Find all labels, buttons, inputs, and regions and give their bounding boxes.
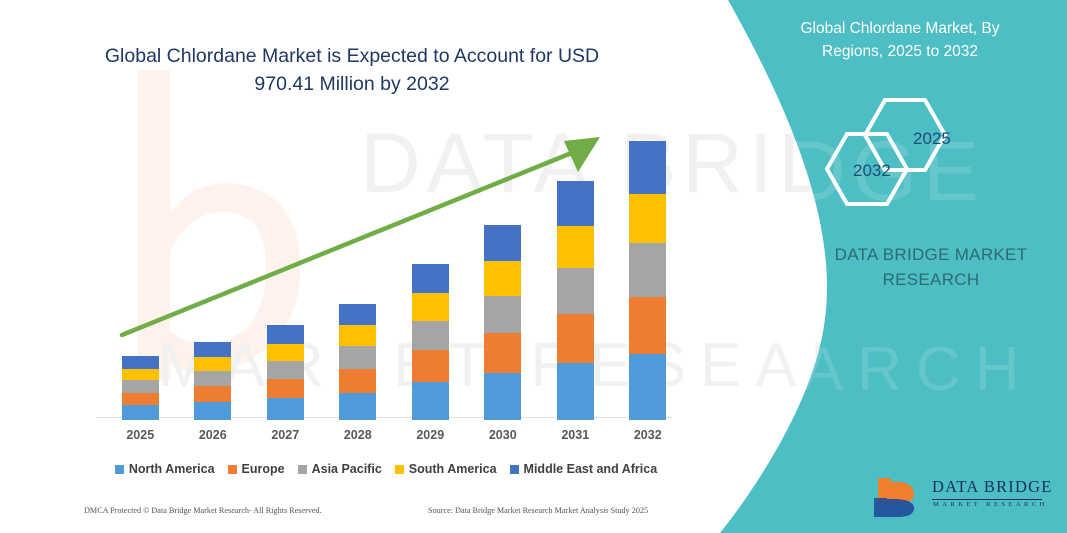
bar-segment-north-america: [412, 382, 449, 420]
x-axis-label-2028: 2028: [328, 428, 388, 442]
bar-segment-middle-east-and-africa: [267, 325, 304, 343]
bar-segment-middle-east-and-africa: [339, 304, 376, 326]
bar-segment-south-america: [194, 357, 231, 371]
bar-segment-europe: [194, 386, 231, 402]
bar-segment-north-america: [557, 363, 594, 420]
bar-segment-europe: [629, 297, 666, 354]
bar-segment-north-america: [629, 354, 666, 420]
bar-segment-asia-pacific: [339, 346, 376, 369]
slide-canvas: DATA BRIDGE MARKET RESEARCH BRIDGE RESEA…: [0, 0, 1067, 533]
hexagon-label-2025: 2025: [913, 129, 951, 149]
bar-segment-north-america: [484, 373, 521, 420]
bar-segment-asia-pacific: [267, 361, 304, 379]
bar-segment-asia-pacific: [122, 380, 159, 393]
data-bridge-logo: DATA BRIDGE MARKET RESEARCH: [872, 474, 1047, 520]
bar-2025: [122, 356, 159, 420]
bar-segment-asia-pacific: [484, 296, 521, 334]
stacked-bar-chart: [96, 120, 676, 420]
bar-segment-south-america: [122, 369, 159, 380]
bar-segment-south-america: [484, 261, 521, 295]
bar-segment-south-america: [412, 293, 449, 320]
panel-title: Global Chlordane Market, By Regions, 202…: [769, 17, 1031, 64]
bar-segment-middle-east-and-africa: [629, 141, 666, 194]
bar-2026: [194, 342, 231, 420]
bar-2029: [412, 264, 449, 420]
legend-item-europe[interactable]: Europe: [228, 462, 285, 476]
legend-label: Middle East and Africa: [524, 462, 658, 476]
legend-label: South America: [409, 462, 497, 476]
bar-segment-europe: [267, 379, 304, 398]
bar-segment-middle-east-and-africa: [122, 356, 159, 369]
bar-segment-middle-east-and-africa: [557, 181, 594, 226]
footer-copyright: DMCA Protected © Data Bridge Market Rese…: [84, 506, 322, 515]
bar-2028: [339, 304, 376, 420]
bar-segment-south-america: [629, 194, 666, 243]
bar-2030: [484, 225, 521, 420]
bar-segment-europe: [339, 369, 376, 393]
x-axis-label-2031: 2031: [545, 428, 605, 442]
footer: DMCA Protected © Data Bridge Market Rese…: [0, 506, 700, 524]
legend-swatch-icon: [395, 465, 404, 474]
legend-swatch-icon: [298, 465, 307, 474]
year-hexagons: [820, 92, 1010, 212]
hexagon-label-2032: 2032: [853, 161, 891, 181]
bar-segment-south-america: [267, 344, 304, 361]
legend-item-middle-east-and-africa[interactable]: Middle East and Africa: [510, 462, 658, 476]
bar-segment-middle-east-and-africa: [484, 225, 521, 262]
chart-legend: North AmericaEuropeAsia PacificSouth Ame…: [96, 460, 676, 478]
x-axis-label-2032: 2032: [618, 428, 678, 442]
legend-item-asia-pacific[interactable]: Asia Pacific: [298, 462, 382, 476]
panel-brand: DATA BRIDGE MARKET RESEARCH: [795, 243, 1067, 292]
bar-segment-europe: [557, 314, 594, 363]
x-axis-label-2026: 2026: [183, 428, 243, 442]
legend-swatch-icon: [228, 465, 237, 474]
page-title: Global Chlordane Market is Expected to A…: [92, 42, 612, 99]
bar-segment-asia-pacific: [629, 243, 666, 297]
footer-source: Source: Data Bridge Market Research Mark…: [428, 506, 648, 515]
logo-name: DATA BRIDGE: [932, 477, 1053, 497]
legend-item-north-america[interactable]: North America: [115, 462, 215, 476]
bar-segment-asia-pacific: [557, 268, 594, 314]
bar-segment-europe: [122, 393, 159, 406]
legend-label: Europe: [242, 462, 285, 476]
bar-segment-north-america: [339, 393, 376, 420]
bar-segment-south-america: [557, 226, 594, 268]
bar-segment-europe: [484, 333, 521, 373]
svg-text:RESEARCH: RESEARCH: [687, 335, 1034, 404]
legend-item-south-america[interactable]: South America: [395, 462, 497, 476]
logo-divider: [932, 499, 1042, 500]
bar-segment-asia-pacific: [194, 371, 231, 386]
bar-segment-europe: [412, 350, 449, 382]
x-axis-labels: 20252026202720282029203020312032: [96, 428, 676, 448]
x-axis-label-2027: 2027: [255, 428, 315, 442]
x-axis-label-2029: 2029: [400, 428, 460, 442]
legend-swatch-icon: [115, 465, 124, 474]
legend-label: North America: [129, 462, 215, 476]
bar-2032: [629, 141, 666, 420]
bar-segment-north-america: [122, 405, 159, 420]
bar-2027: [267, 325, 304, 420]
x-axis-label-2030: 2030: [473, 428, 533, 442]
data-bridge-mark-icon: [872, 474, 930, 520]
bar-segment-asia-pacific: [412, 321, 449, 351]
bar-segment-middle-east-and-africa: [194, 342, 231, 357]
bar-segment-north-america: [267, 398, 304, 420]
x-axis-label-2025: 2025: [110, 428, 170, 442]
legend-label: Asia Pacific: [312, 462, 382, 476]
bar-2031: [557, 181, 594, 420]
bar-segment-north-america: [194, 402, 231, 420]
bar-segment-south-america: [339, 325, 376, 346]
bar-segment-middle-east-and-africa: [412, 264, 449, 294]
logo-tagline: MARKET RESEARCH: [933, 501, 1048, 508]
legend-swatch-icon: [510, 465, 519, 474]
